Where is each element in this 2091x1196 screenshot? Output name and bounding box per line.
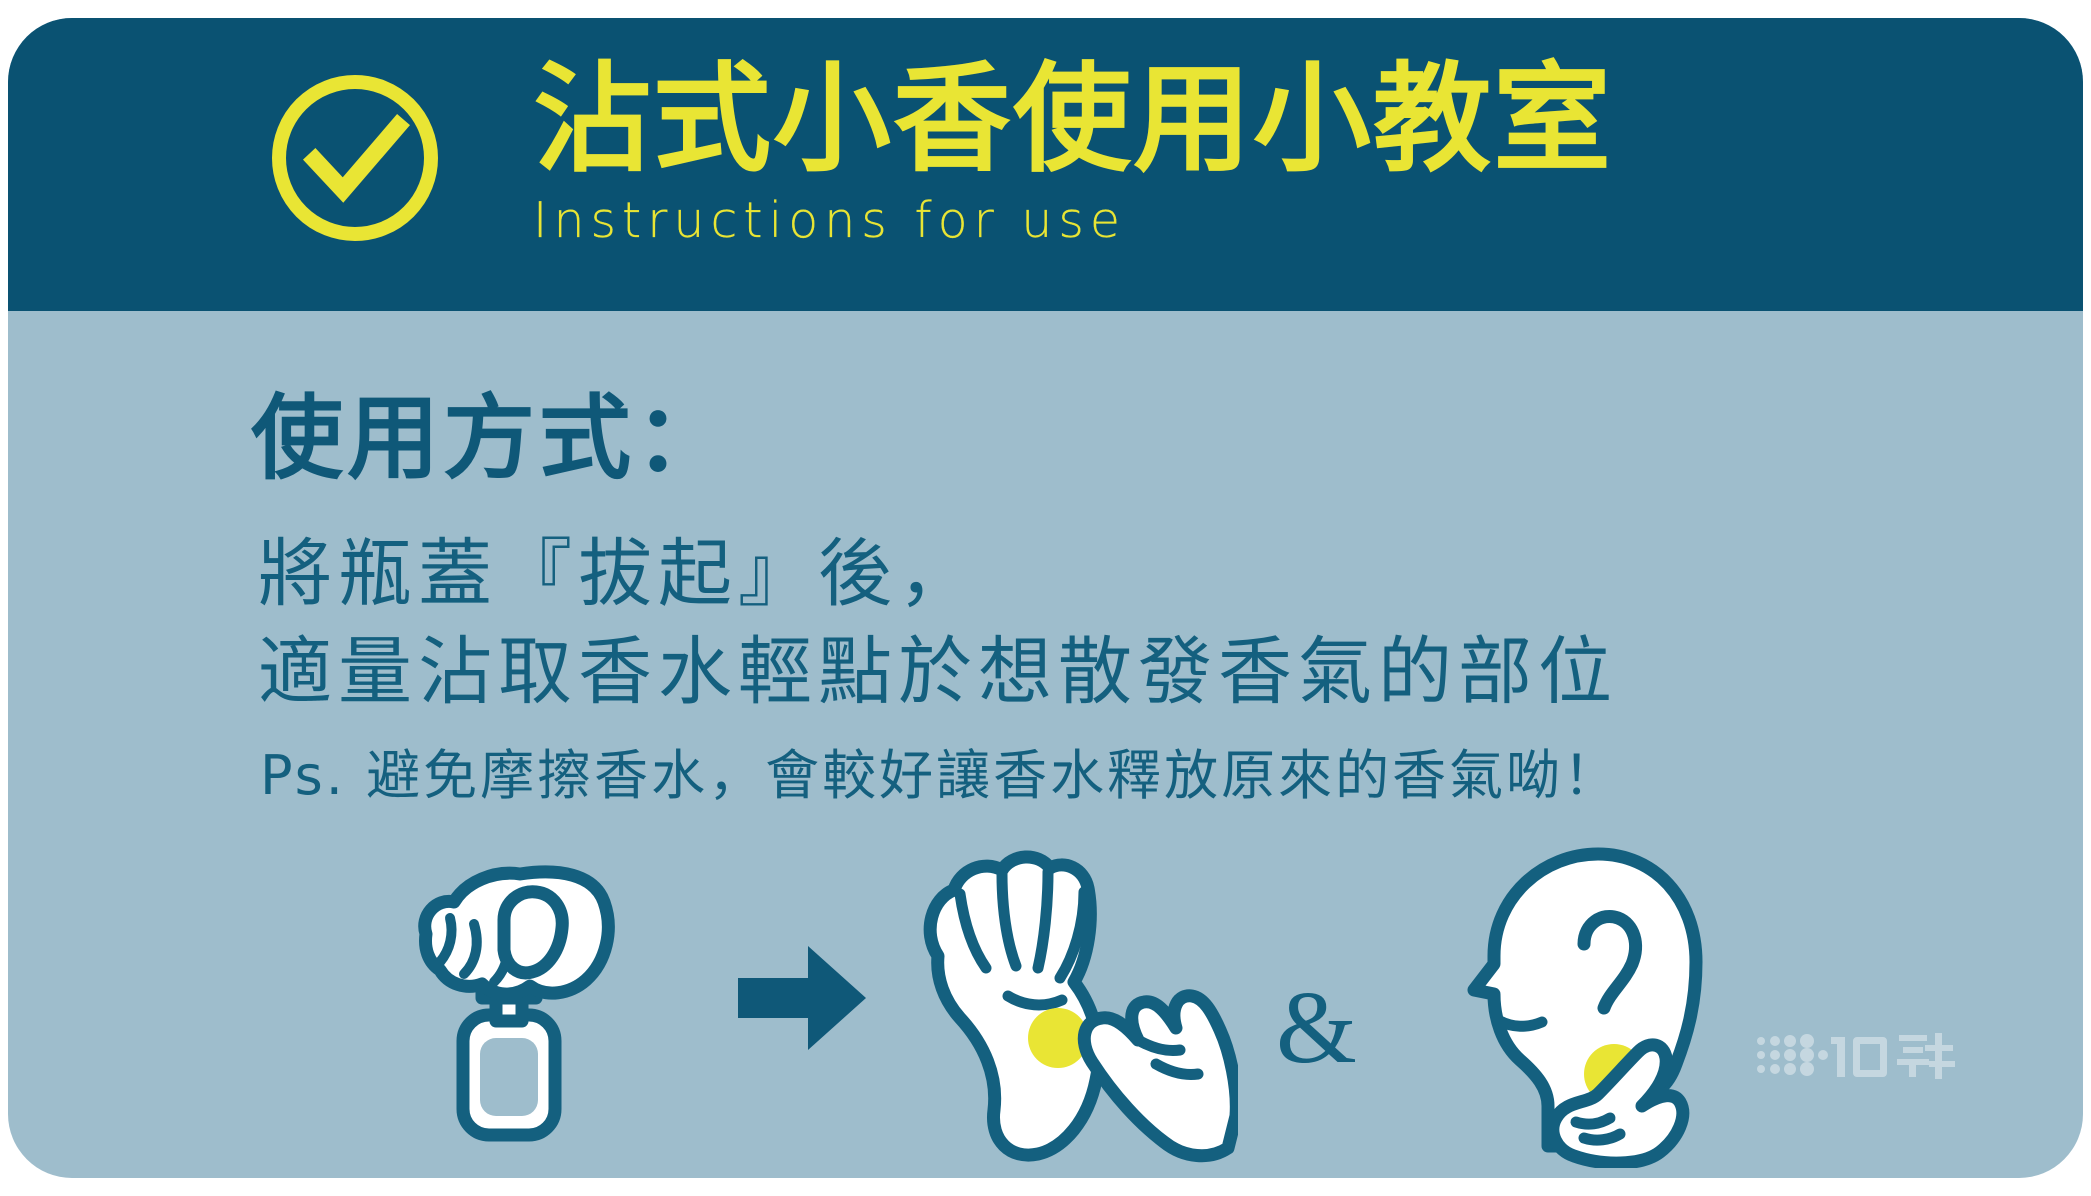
hand-pulling-bottle-cap-icon: [408, 858, 698, 1163]
usage-note: Ps. 避免摩擦香水，會較好讓香水釋放原來的香氣呦！: [260, 749, 1620, 803]
usage-heading: 使用方式：: [251, 393, 731, 485]
header-title-block: 沾式小香使用小教室 Instructions for use: [533, 60, 1613, 245]
usage-step-line-2: 適量沾取香水輕點於想散發香氣的部位: [258, 635, 1618, 709]
page-subtitle: Instructions for use: [533, 196, 1613, 245]
brand-watermark-logo: [1753, 1023, 1961, 1092]
hand-dabbing-wrist-icon: [898, 848, 1238, 1173]
illustration-row: &: [8, 858, 2083, 1178]
card-header: 沾式小香使用小教室 Instructions for use: [8, 18, 2083, 311]
head-profile-dabbing-behind-ear-icon: [1398, 838, 1738, 1173]
instruction-card: 沾式小香使用小教室 Instructions for use 使用方式： 將瓶蓋…: [8, 18, 2083, 1178]
conjunction-ampersand: &: [1276, 976, 1357, 1080]
check-circle-icon: [265, 68, 445, 248]
arrow-right-icon: [738, 938, 868, 1063]
page-title: 沾式小香使用小教室: [533, 60, 1613, 178]
usage-step-line-1: 將瓶蓋『拔起』後，: [258, 537, 978, 611]
